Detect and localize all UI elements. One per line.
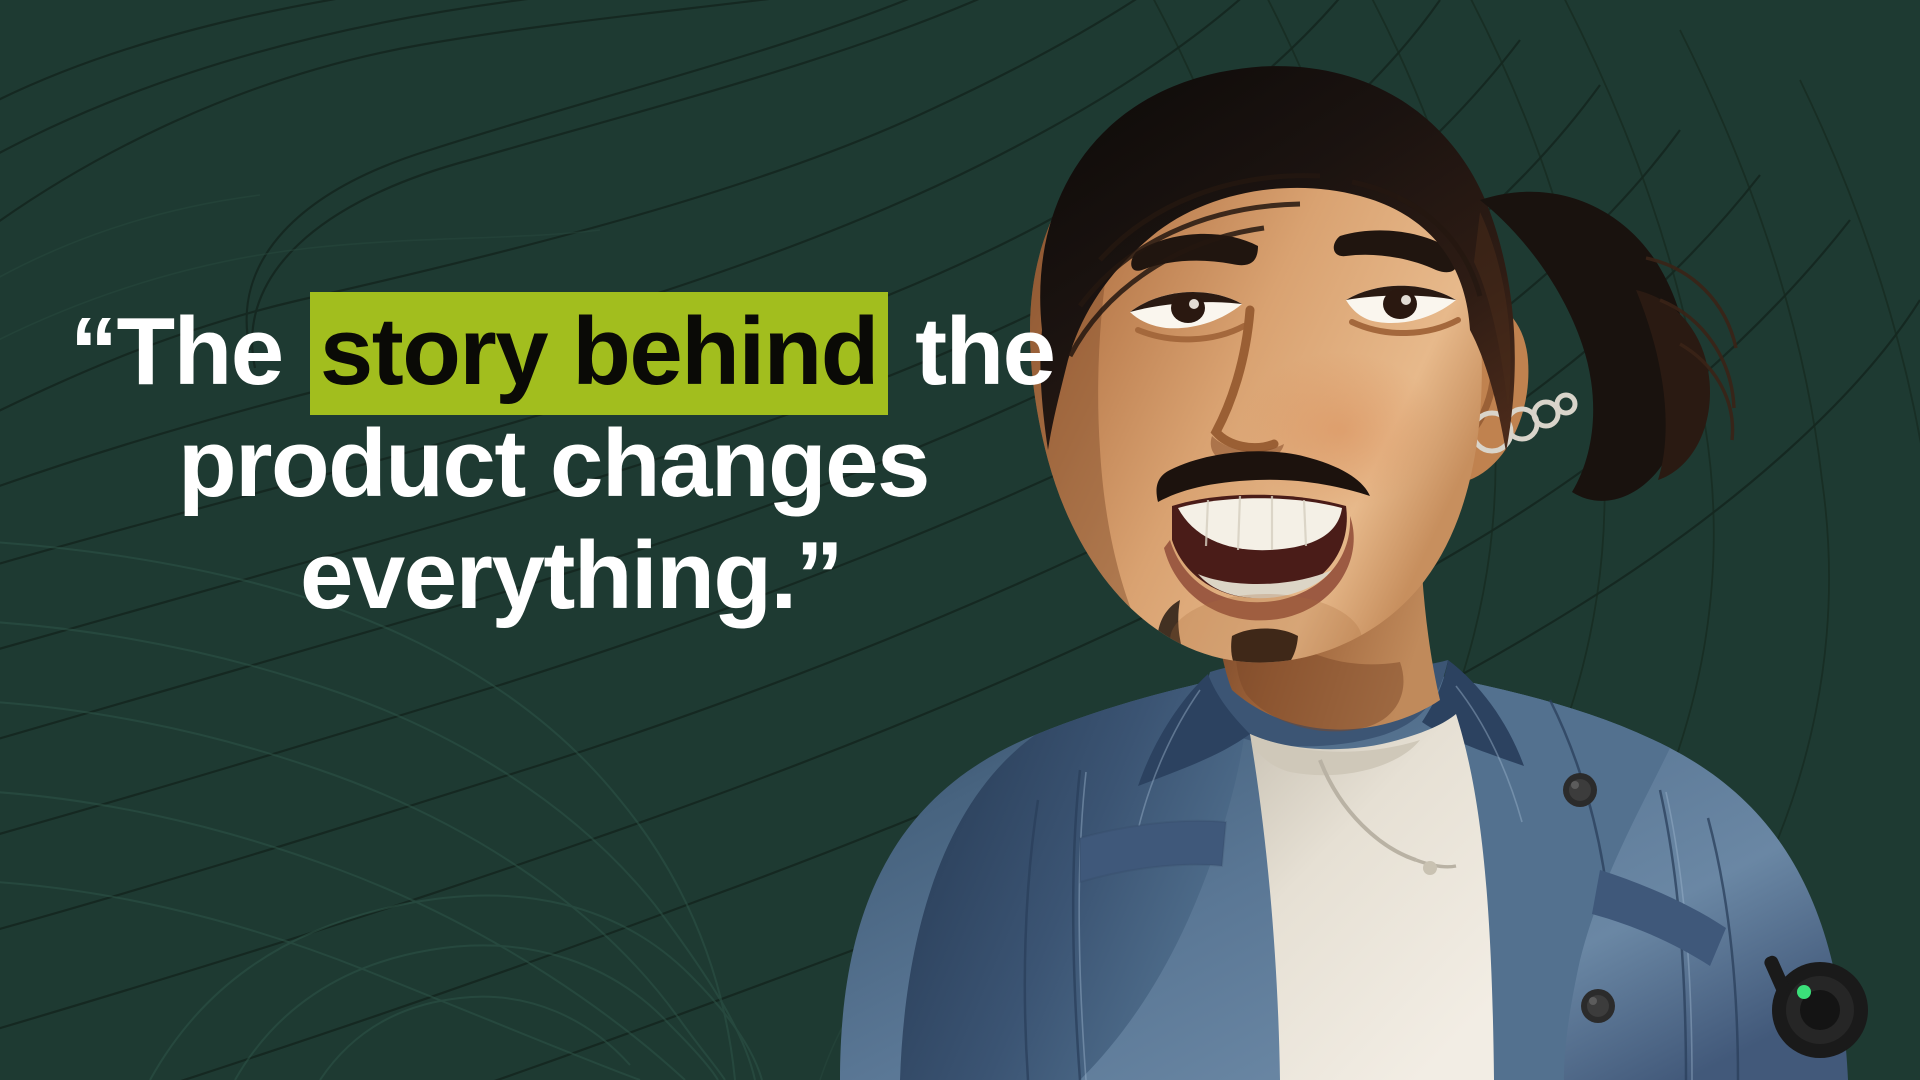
- quote-line-1-close: the: [890, 298, 1055, 405]
- quote-line-2: product changes: [0, 408, 1180, 520]
- quote-line-3: everything.”: [0, 520, 1180, 632]
- quote-line-1: “The story behind the: [0, 296, 1180, 408]
- jacket-button: [1563, 773, 1597, 807]
- quote-line-1-open: “The: [70, 298, 308, 405]
- quote-text-block: “The story behind the product changes ev…: [0, 296, 1180, 632]
- jacket-button-lower: [1581, 989, 1615, 1023]
- quote-card: “The story behind the product changes ev…: [0, 0, 1920, 1080]
- quote-highlight-phrase: story behind: [310, 292, 888, 415]
- necklace-pendant: [1423, 861, 1437, 875]
